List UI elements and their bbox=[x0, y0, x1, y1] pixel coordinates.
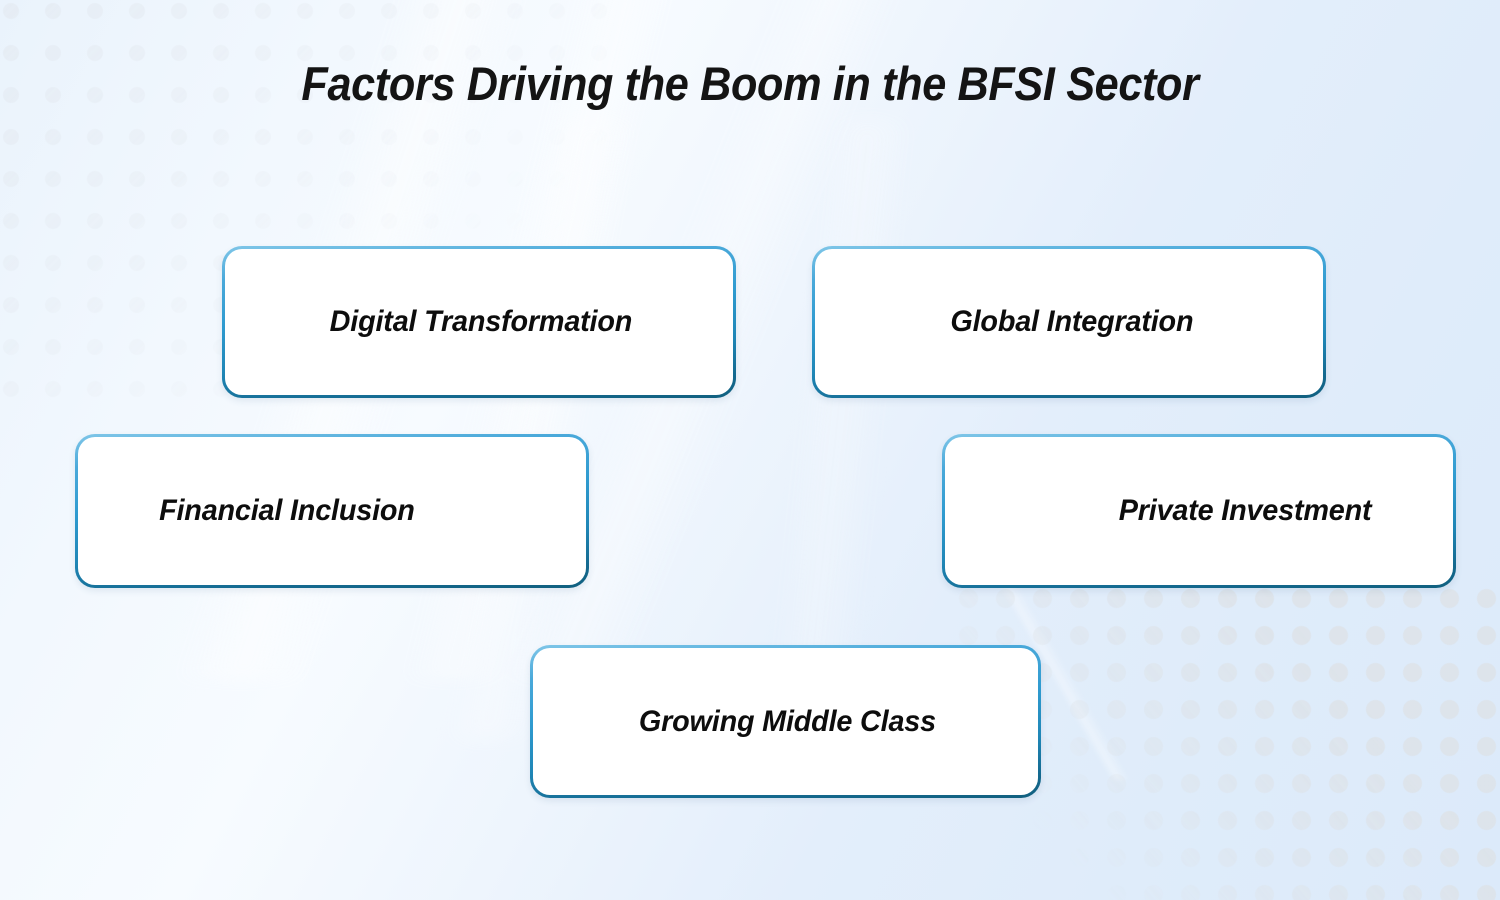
factor-card-financial-inclusion[interactable]: Financial Inclusion bbox=[75, 434, 589, 588]
factor-card-label: Digital Transformation bbox=[235, 305, 723, 339]
factor-card-global-integration[interactable]: Global Integration bbox=[812, 246, 1326, 398]
factor-card-label: Private Investment bbox=[955, 494, 1443, 528]
factor-card-label: Financial Inclusion bbox=[88, 494, 576, 528]
page-title: Factors Driving the Boom in the BFSI Sec… bbox=[60, 56, 1440, 111]
factor-card-label: Growing Middle Class bbox=[543, 705, 1028, 739]
factor-card-private-investment[interactable]: Private Investment bbox=[942, 434, 1456, 588]
slide-canvas: Factors Driving the Boom in the BFSI Sec… bbox=[0, 0, 1500, 900]
factor-card-growing-middle-class[interactable]: Growing Middle Class bbox=[530, 645, 1041, 798]
factor-card-label: Global Integration bbox=[825, 305, 1313, 339]
factor-card-digital-transformation[interactable]: Digital Transformation bbox=[222, 246, 736, 398]
